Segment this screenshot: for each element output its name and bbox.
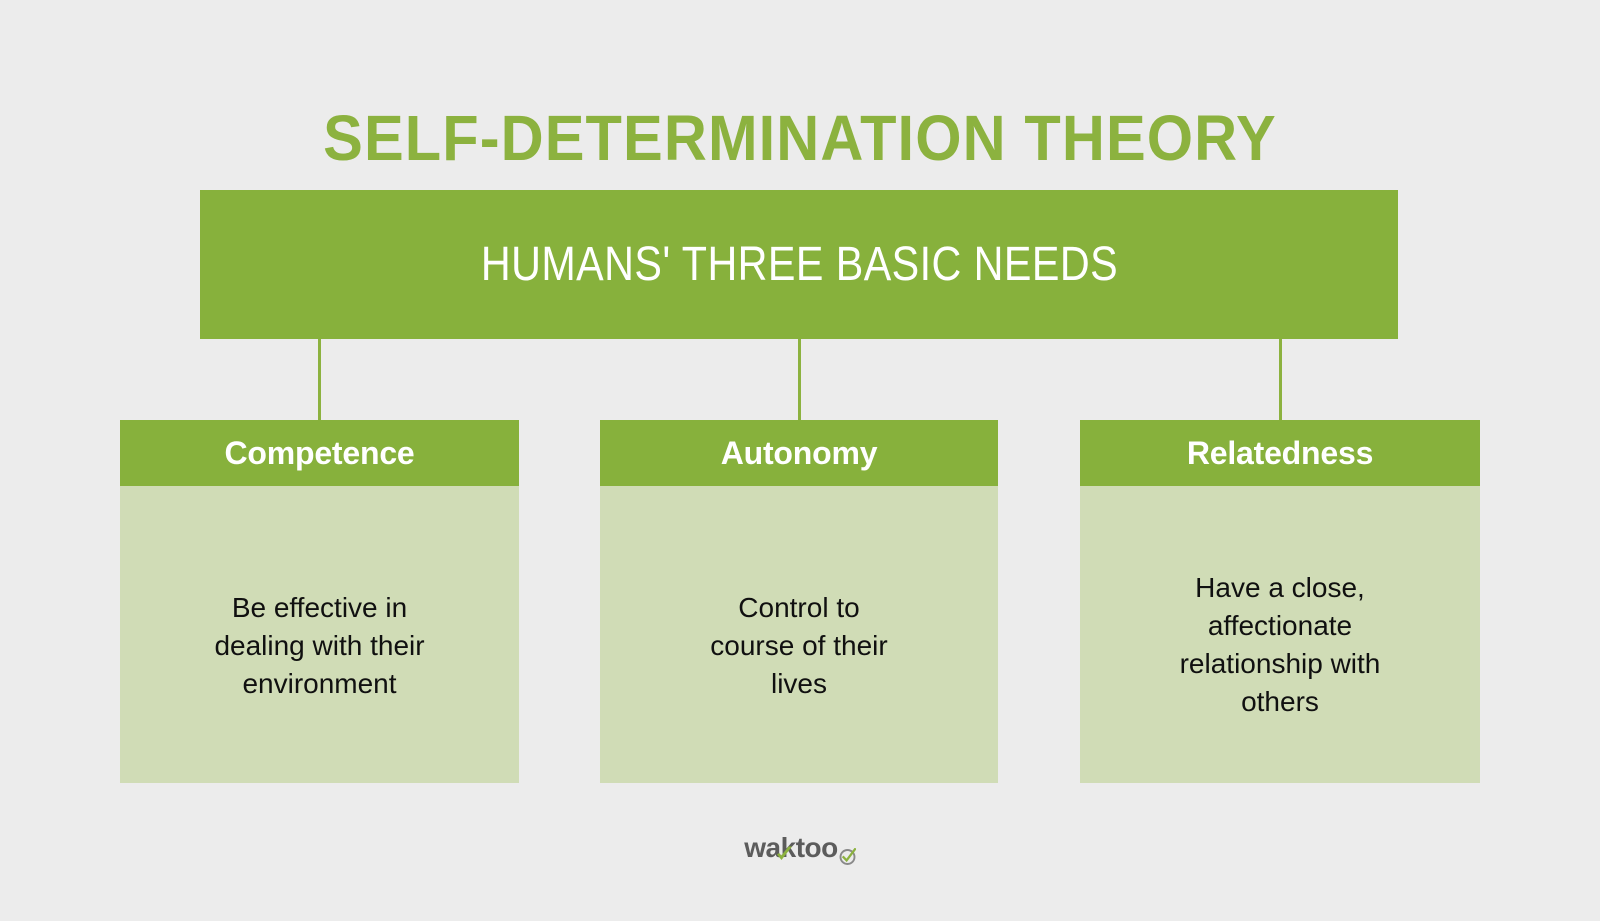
logo-k-letter: k <box>781 834 796 862</box>
card-header-autonomy: Autonomy <box>600 420 998 486</box>
card-header-relatedness: Relatedness <box>1080 420 1480 486</box>
logo-text-part2: k <box>781 832 796 863</box>
card-header-competence: Competence <box>120 420 519 486</box>
logo-text-part3: too <box>796 834 838 862</box>
root-node-label: HUMANS' THREE BASIC NEEDS <box>480 241 1117 289</box>
card-description-competence: Be effective in dealing with their envir… <box>214 514 424 703</box>
card-body-competence: Be effective in dealing with their envir… <box>120 486 519 783</box>
card-title-competence: Competence <box>224 437 414 469</box>
card-title-autonomy: Autonomy <box>721 437 878 469</box>
logo-check-circle-icon <box>839 842 856 859</box>
card-relatedness: Relatedness Have a close, affectionate r… <box>1080 420 1480 783</box>
connector-line-competence <box>318 339 321 420</box>
connector-line-autonomy <box>798 339 801 420</box>
infographic-canvas: SELF-DETERMINATION THEORY HUMANS' THREE … <box>0 0 1600 921</box>
logo-text-part1: wa <box>744 834 780 862</box>
footer: waktoo <box>0 834 1600 862</box>
card-title-relatedness: Relatedness <box>1187 437 1373 469</box>
page-title: SELF-DETERMINATION THEORY <box>56 106 1544 170</box>
card-body-autonomy: Control to course of their lives <box>600 486 998 783</box>
card-body-relatedness: Have a close, affectionate relationship … <box>1080 486 1480 783</box>
waktoo-logo: waktoo <box>744 834 855 862</box>
connector-line-relatedness <box>1279 339 1282 420</box>
root-node-banner: HUMANS' THREE BASIC NEEDS <box>200 190 1398 339</box>
card-description-autonomy: Control to course of their lives <box>710 514 887 703</box>
card-autonomy: Autonomy Control to course of their live… <box>600 420 998 783</box>
card-competence: Competence Be effective in dealing with … <box>120 420 519 783</box>
card-description-relatedness: Have a close, affectionate relationship … <box>1180 514 1381 721</box>
